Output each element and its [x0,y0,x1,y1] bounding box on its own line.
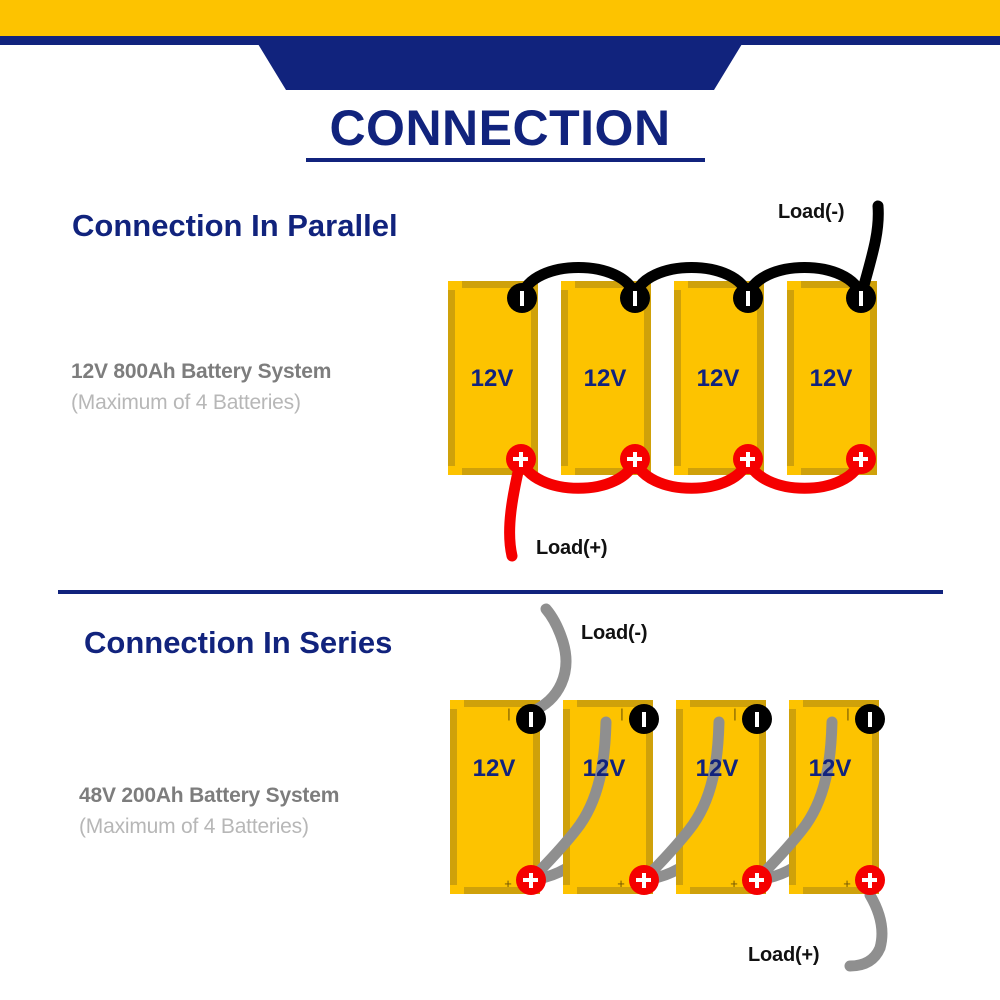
battery-label: 12V [471,365,514,392]
system-note-parallel: (Maximum of 4 Batteries) [71,391,331,415]
system-title-series: 48V 200Ah Battery System [79,784,339,808]
battery-label: 12V [584,365,627,392]
svg-text:+: + [617,876,625,891]
series-wires-back [531,722,834,880]
svg-text:|: | [620,706,623,721]
section-heading-series: Connection In Series [84,625,392,661]
positive-terminals-parallel [506,444,876,474]
svg-text:+: + [843,876,851,891]
system-note-series: (Maximum of 4 Batteries) [79,815,339,839]
battery-label: 12V [696,755,739,782]
section-heading-parallel: Connection In Parallel [72,208,398,244]
battery-voltage-labels-series: 12V 12V 12V 12V [473,755,852,782]
header-blue-tab [0,44,1000,90]
load-positive-label-parallel: Load(+) [536,537,607,560]
system-title-parallel: 12V 800Ah Battery System [71,360,331,384]
page-title: CONNECTION [0,99,1000,157]
svg-text:|: | [846,706,849,721]
battery-label: 12V [583,755,626,782]
section-divider [58,590,943,594]
series-wires-front [531,609,882,966]
system-description-parallel: 12V 800Ah Battery System (Maximum of 4 B… [71,360,331,415]
battery-label: 12V [810,365,853,392]
system-description-series: 48V 200Ah Battery System (Maximum of 4 B… [79,784,339,839]
negative-terminals-parallel [507,283,876,313]
page-title-underline [306,158,705,162]
load-negative-label-series: Load(-) [581,622,647,645]
battery-polarity-glyphs: | | | | + + + + [504,706,851,891]
infographic-page: CONNECTION Connection In Parallel 12V 80… [0,0,1000,1000]
svg-text:+: + [504,876,512,891]
positive-terminals-series [516,865,885,895]
battery-voltage-labels-parallel: 12V 12V 12V 12V [471,365,853,392]
battery-label: 12V [809,755,852,782]
svg-text:|: | [733,706,736,721]
load-negative-label-parallel: Load(-) [778,201,844,224]
svg-text:+: + [730,876,738,891]
header-yellow-bar [0,0,1000,36]
load-positive-label-series: Load(+) [748,944,819,967]
battery-group-series [450,700,879,894]
battery-group-parallel [448,281,877,475]
svg-text:|: | [507,706,510,721]
battery-label: 12V [473,755,516,782]
negative-terminals-series [516,704,885,734]
battery-label: 12V [697,365,740,392]
